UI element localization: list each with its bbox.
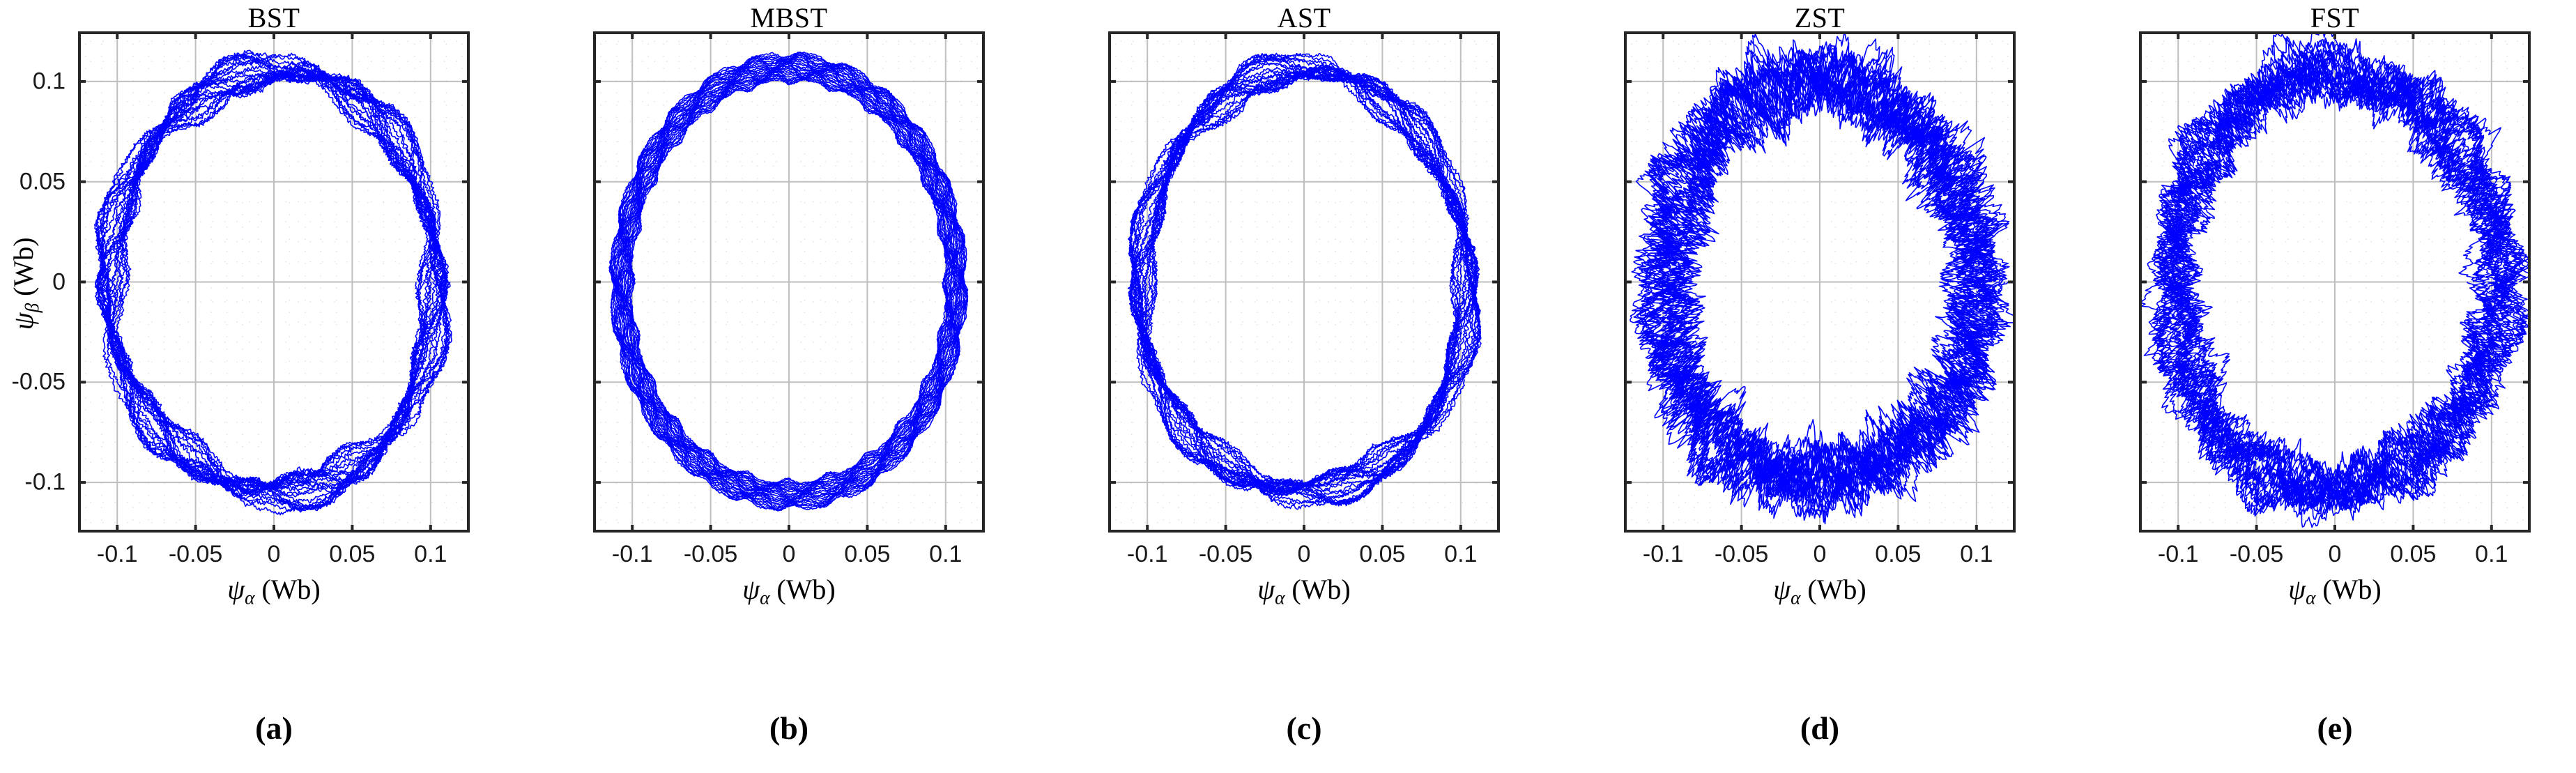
subplot-title-bst: BST — [78, 1, 470, 34]
x-axis-unit: (Wb) — [776, 574, 835, 605]
x-axis-label: ψα (Wb) — [1624, 573, 2016, 609]
subplot-title-mbst: MBST — [593, 1, 985, 34]
x-tick-label: -0.05 — [2230, 541, 2284, 568]
y-tick-label: 0.1 — [0, 68, 66, 95]
subplot-letter-a: (a) — [78, 710, 470, 747]
x-tick-label: 0.1 — [2475, 541, 2508, 568]
x-axis-symbol: ψ — [2288, 574, 2306, 605]
x-tick-label: -0.05 — [1715, 541, 1769, 568]
x-axis-subscript: α — [245, 588, 254, 609]
x-tick-label: -0.1 — [2158, 541, 2199, 568]
x-tick-label: -0.05 — [169, 541, 223, 568]
x-axis-unit: (Wb) — [2322, 574, 2381, 605]
x-axis-subscript: α — [760, 588, 769, 609]
plot-area-fst — [2139, 31, 2531, 533]
x-axis-label: ψα (Wb) — [1108, 573, 1500, 609]
x-tick-label: -0.1 — [1643, 541, 1684, 568]
y-axis-unit: (Wb) — [8, 237, 39, 296]
y-axis-symbol: ψ — [8, 312, 39, 330]
x-axis-symbol: ψ — [1773, 574, 1791, 605]
x-axis-symbol: ψ — [742, 574, 760, 605]
flux-trajectory-trace — [2141, 31, 2531, 528]
x-tick-label: 0.05 — [844, 541, 890, 568]
x-axis-label: ψα (Wb) — [2139, 573, 2531, 609]
x-tick-label: 0 — [1298, 541, 1311, 568]
plot-area-ast — [1108, 31, 1500, 533]
subplot-panel-mbst: MBST-0.1-0.0500.050.1ψα (Wb)(b) — [515, 0, 1030, 773]
x-tick-label: 0.05 — [329, 541, 375, 568]
x-axis-label: ψα (Wb) — [593, 573, 985, 609]
subplot-panel-bst: BST-0.1-0.0500.050.10.10.050-0.05-0.1ψβ … — [0, 0, 515, 773]
x-tick-label: -0.05 — [1199, 541, 1253, 568]
subplot-title-zst: ZST — [1624, 1, 2016, 34]
y-axis-label: ψβ (Wb) — [7, 171, 43, 395]
major-grid — [78, 31, 470, 533]
subplot-letter-e: (e) — [2139, 710, 2531, 747]
subplot-panel-zst: ZST-0.1-0.0500.050.1ψα (Wb)(d) — [1546, 0, 2061, 773]
x-axis-subscript: α — [1275, 588, 1285, 609]
x-tick-label: 0.05 — [2390, 541, 2436, 568]
x-tick-label: 0 — [2329, 541, 2342, 568]
major-grid — [593, 31, 985, 533]
plot-area-mbst — [593, 31, 985, 533]
subplot-panel-fst: FST-0.1-0.0500.050.1ψα (Wb)(e) — [2061, 0, 2576, 773]
subplot-letter-b: (b) — [593, 710, 985, 747]
subplot-title-ast: AST — [1108, 1, 1500, 34]
x-tick-label: 0.1 — [1960, 541, 1993, 568]
x-axis-unit: (Wb) — [1807, 574, 1866, 605]
x-tick-label: 0.1 — [929, 541, 962, 568]
x-tick-label: 0.05 — [1875, 541, 1921, 568]
subplot-letter-d: (d) — [1624, 710, 2016, 747]
subplot-title-fst: FST — [2139, 1, 2531, 34]
subplot-panel-ast: AST-0.1-0.0500.050.1ψα (Wb)(c) — [1030, 0, 1545, 773]
x-tick-label: 0 — [783, 541, 796, 568]
x-axis-unit: (Wb) — [261, 574, 320, 605]
x-axis-subscript: α — [1791, 588, 1800, 609]
x-tick-label: 0.1 — [1444, 541, 1477, 568]
x-tick-label: -0.1 — [97, 541, 138, 568]
x-tick-label: -0.05 — [684, 541, 738, 568]
x-tick-label: 0.05 — [1359, 541, 1405, 568]
y-axis-subscript: β — [22, 303, 43, 312]
plot-area-bst — [78, 31, 470, 533]
x-axis-symbol: ψ — [227, 574, 245, 605]
x-tick-label: -0.1 — [1127, 541, 1168, 568]
x-axis-unit: (Wb) — [1291, 574, 1350, 605]
x-axis-symbol: ψ — [1257, 574, 1275, 605]
plot-area-zst — [1624, 31, 2016, 533]
subplot-letter-c: (c) — [1108, 710, 1500, 747]
major-grid — [1108, 31, 1500, 533]
x-tick-label: -0.1 — [612, 541, 653, 568]
x-axis-subscript: α — [2306, 588, 2315, 609]
x-tick-label: 0 — [1814, 541, 1827, 568]
x-tick-label: 0.1 — [414, 541, 447, 568]
x-tick-label: 0 — [268, 541, 281, 568]
flux-trajectory-figure: BST-0.1-0.0500.050.10.10.050-0.05-0.1ψβ … — [0, 0, 2576, 773]
x-axis-label: ψα (Wb) — [78, 573, 470, 609]
y-tick-label: -0.1 — [0, 469, 66, 496]
flux-trajectory-trace — [1630, 31, 2016, 524]
